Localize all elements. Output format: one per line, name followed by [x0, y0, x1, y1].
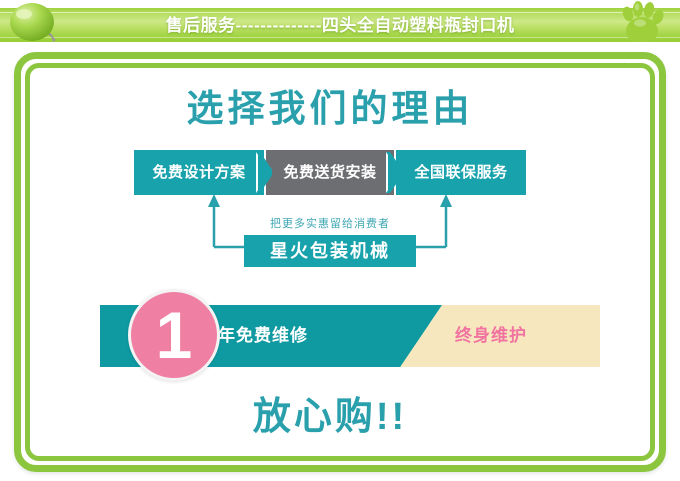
arrow-head-right: [440, 194, 452, 207]
page-title: 选择我们的理由: [30, 78, 630, 132]
chevron-right-icon: [386, 150, 402, 195]
header-title: 售后服务--------------四头全自动塑料瓶封口机: [0, 11, 680, 36]
promo-content: 选择我们的理由 免费设计方案 免费送货安装 全国联保服务: [30, 60, 650, 464]
bottom-slogan: 放心购!!: [30, 385, 630, 440]
feature-badge-warranty[interactable]: 全国联保服务: [396, 150, 526, 195]
balloon-pin-icon: [6, 2, 68, 50]
warranty-lifetime-label: 终身维护: [455, 305, 527, 367]
warranty-number-circle: 1: [128, 289, 220, 381]
tagline-text: 把更多实惠留给消费者: [30, 215, 630, 231]
arrow-head-left: [208, 194, 220, 207]
promo-page: 售后服务--------------四头全自动塑料瓶封口机 选择我们的理由 免费…: [0, 0, 680, 481]
warranty-free-repair-label: 年免费维修: [218, 305, 308, 367]
feature-badge-design[interactable]: 免费设计方案: [134, 150, 264, 195]
chevron-right-icon: [256, 150, 272, 195]
warranty-bar: 年免费维修 终身维护 1: [100, 305, 600, 367]
feature-badge-row: 免费设计方案 免费送货安装 全国联保服务: [134, 150, 526, 195]
feature-badge-delivery[interactable]: 免费送货安装: [266, 150, 394, 195]
paw-print-icon: [618, 1, 666, 47]
page-header: 售后服务--------------四头全自动塑料瓶封口机: [0, 0, 680, 52]
brand-name-box: 星火包装机械: [244, 235, 416, 267]
warranty-number: 1: [131, 292, 217, 378]
